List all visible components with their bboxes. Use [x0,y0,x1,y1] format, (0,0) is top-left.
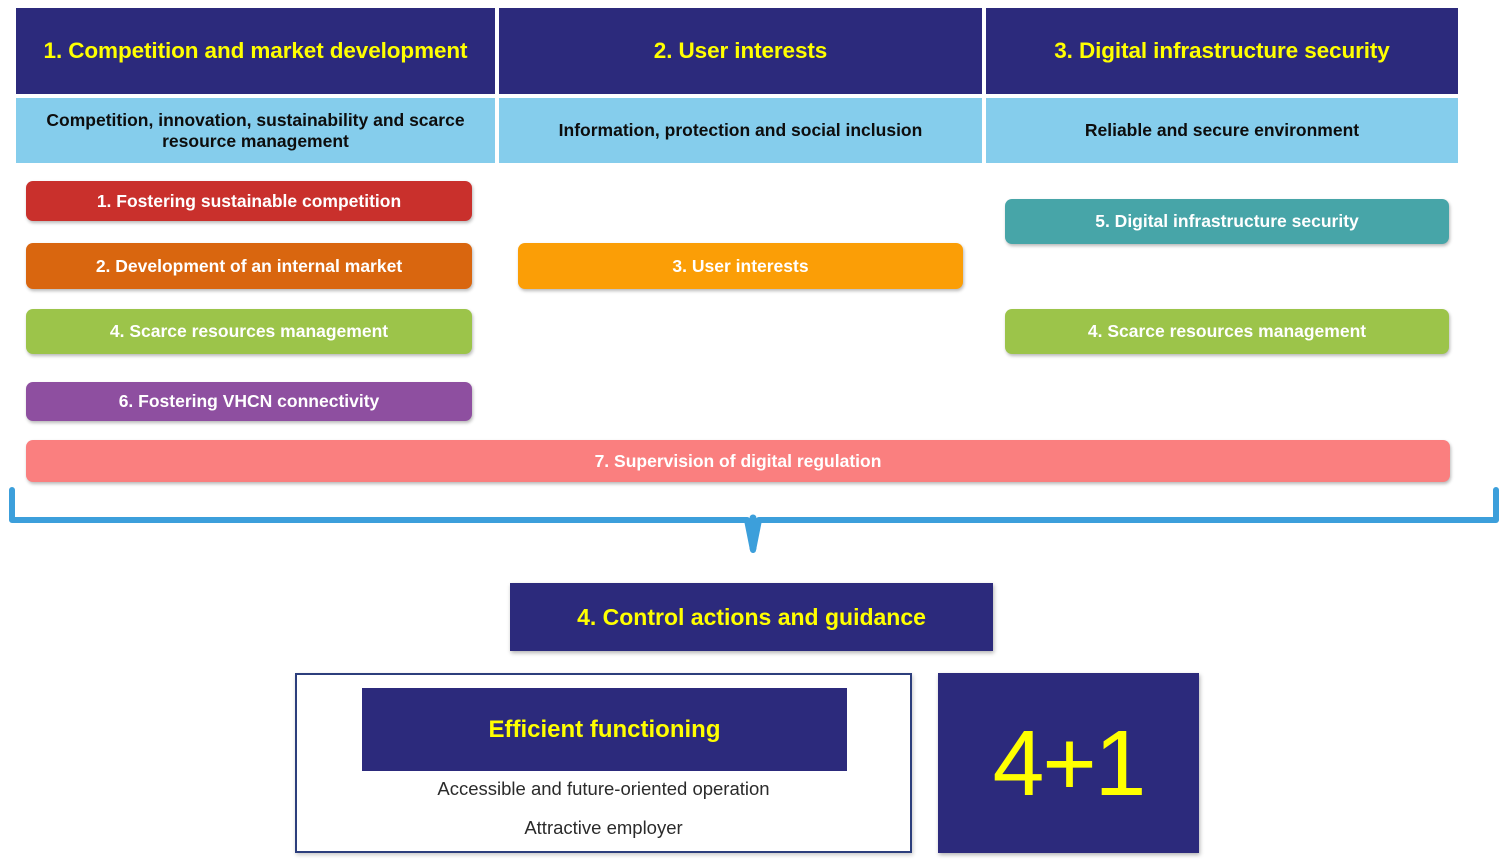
header-subtitle-user-interests: Information, protection and social inclu… [499,98,982,163]
strategy-header-table: 1. Competition and market development 2.… [16,8,1458,163]
bar-scarce-resources-management-left: 4. Scarce resources management [26,309,472,354]
efficient-functioning-line-1: Accessible and future-oriented operation [297,778,910,800]
control-actions-and-guidance-box: 4. Control actions and guidance [510,583,993,651]
efficient-functioning-line-2: Attractive employer [297,817,910,839]
efficient-functioning-title: Efficient functioning [362,688,847,771]
header-subtitle-digital-infrastructure-security: Reliable and secure environment [986,98,1458,163]
header-subtitle-competition: Competition, innovation, sustainability … [16,98,495,163]
bar-digital-infrastructure-security: 5. Digital infrastructure security [1005,199,1449,244]
header-title-digital-infrastructure-security: 3. Digital infrastructure security [986,8,1458,94]
bar-user-interests: 3. User interests [518,243,963,289]
efficient-functioning-card: Efficient functioning Accessible and fut… [295,673,912,853]
bar-development-of-an-internal-market: 2. Development of an internal market [26,243,472,289]
header-title-user-interests: 2. User interests [499,8,982,94]
bar-fostering-vhcn-connectivity: 6. Fostering VHCN connectivity [26,382,472,421]
header-title-row: 1. Competition and market development 2.… [16,8,1458,94]
bar-fostering-sustainable-competition: 1. Fostering sustainable competition [26,181,472,221]
header-title-competition: 1. Competition and market development [16,8,495,94]
bar-scarce-resources-management-right: 4. Scarce resources management [1005,309,1449,354]
header-subtitle-row: Competition, innovation, sustainability … [16,98,1458,163]
bar-supervision-of-digital-regulation: 7. Supervision of digital regulation [26,440,1450,482]
four-plus-one-badge: 4+1 [938,673,1199,853]
bracket-connector-icon [6,484,1502,556]
